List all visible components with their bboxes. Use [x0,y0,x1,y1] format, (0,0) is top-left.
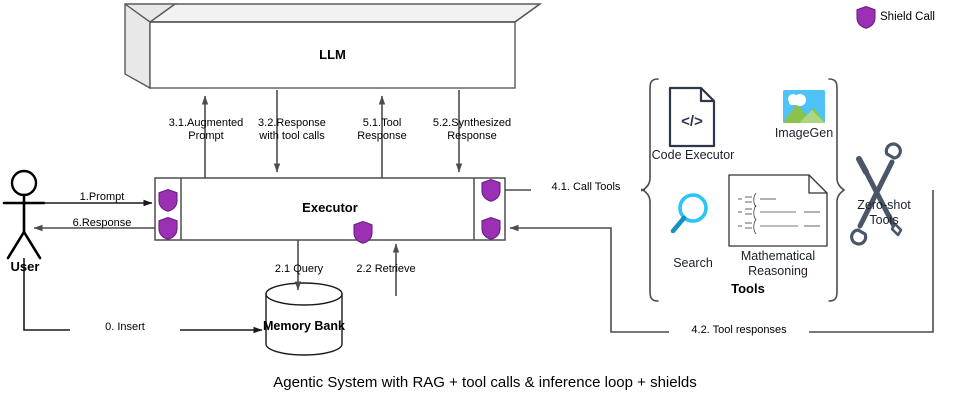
tool-label-math-reasoning: Mathematical Reasoning [728,249,828,279]
diagram-canvas: </> [0,0,970,411]
shield-icon [857,7,875,29]
tool-label-code-executor: Code Executor [647,148,739,163]
diagram-caption: Agentic System with RAG + tool calls & i… [0,374,970,391]
llm-node [125,4,540,88]
image-picture-icon [783,90,825,123]
shield-icon [159,190,177,212]
edge-label-5-2: 5.2.Synthesized Response [413,117,531,143]
legend-label: Shield Call [880,11,960,24]
formula-document-icon [729,175,827,246]
magnifier-icon [673,195,706,231]
code-document-icon: </> [670,88,714,146]
edge-label-4-2-tool-responses: 4.2. Tool responses [669,324,809,337]
shield-icon [482,180,500,202]
tool-label-image-gen: ImageGen [764,126,844,141]
crossed-wrench-screwdriver-icon [852,144,901,244]
edge-label-2-2-retrieve: 2.2 Retrieve [338,263,434,276]
diagram-vector-layer: </> [0,0,970,411]
memory-bank-label: Memory Bank [249,320,359,333]
shield-icon [159,218,177,240]
tool-label-zero-shot-tools: Zero-shot Tools [838,198,930,228]
llm-label: LLM [265,48,400,61]
tools-left-brace [643,79,658,301]
edge-label-1-prompt: 1.Prompt [62,191,142,204]
shield-icon [482,218,500,240]
tools-group-label: Tools [713,282,783,295]
user-node [4,171,44,258]
executor-label: Executor [255,201,405,214]
edge-label-6-response: 6.Response [57,217,147,230]
tool-label-search: Search [660,256,726,271]
edge-0-insert [24,258,262,330]
edge-label-2-1-query: 2.1 Query [259,263,339,276]
user-label: User [0,260,50,273]
svg-text:</>: </> [681,113,703,130]
tools-right-brace [829,79,844,301]
shield-icon [354,222,372,244]
edge-label-0-insert: 0. Insert [70,321,180,334]
edge-label-4-1-call-tools: 4.1. Call Tools [531,181,641,194]
edge-label-3-2: 3.2.Response with tool calls [232,117,352,143]
